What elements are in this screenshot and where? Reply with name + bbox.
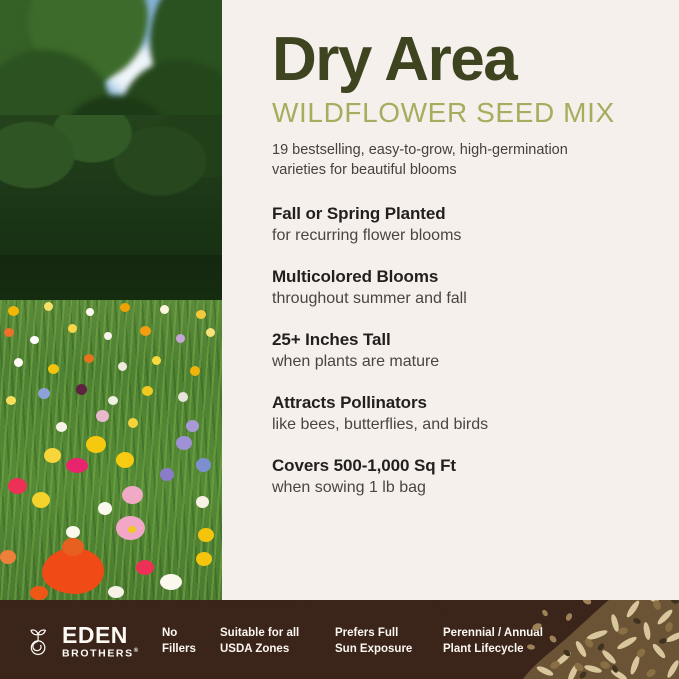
flower — [6, 396, 16, 405]
flower — [68, 324, 77, 333]
feature-subtext: for recurring flower blooms — [272, 226, 653, 247]
flower-poppy-orange — [30, 586, 48, 600]
flower — [160, 574, 182, 590]
flower — [178, 392, 188, 402]
footer-badge-sun-exposure: Prefers Full Sun Exposure — [335, 626, 443, 658]
feature-heading: 25+ Inches Tall — [272, 329, 653, 350]
feature-heading: Multicolored Blooms — [272, 266, 653, 287]
flower — [108, 396, 118, 405]
flower-poppy-red — [136, 560, 154, 575]
flower — [104, 332, 112, 340]
grass-texture — [0, 300, 222, 607]
flower-cornflower — [38, 388, 50, 399]
flower — [44, 302, 53, 311]
flower — [196, 310, 206, 319]
brand-name-secondary-text: BROTHERS — [62, 648, 134, 660]
flower-cosmos — [96, 410, 109, 422]
feature-item: 25+ Inches Tall when plants are mature — [272, 329, 653, 373]
flower — [30, 336, 39, 344]
feature-heading: Fall or Spring Planted — [272, 203, 653, 224]
flower — [176, 334, 185, 343]
wildflower-meadow-photo — [0, 0, 222, 607]
feature-item: Multicolored Blooms throughout summer an… — [272, 266, 653, 310]
flower — [0, 550, 16, 564]
flower — [152, 356, 161, 365]
footer-badge-no-fillers: No Fillers — [162, 626, 220, 658]
flower — [66, 526, 80, 538]
flower — [206, 328, 215, 337]
feature-subtext: like bees, butterflies, and birds — [272, 415, 653, 436]
flower — [86, 308, 94, 316]
footer-bar: EDEN BROTHERS® No Fillers Suitable for a… — [0, 600, 679, 679]
wildflower-meadow — [0, 300, 222, 607]
flower — [8, 306, 19, 316]
flower — [4, 328, 14, 337]
flower-pink — [66, 458, 88, 473]
product-infographic-card: Dry Area WILDFLOWER SEED MIX 19 bestsell… — [0, 0, 679, 679]
flower — [128, 418, 138, 428]
flower — [160, 468, 174, 481]
flower — [160, 305, 169, 314]
feature-item: Covers 500-1,000 Sq Ft when sowing 1 lb … — [272, 455, 653, 499]
flower-scabiosa — [176, 436, 192, 450]
flower — [84, 354, 94, 363]
flower — [118, 362, 127, 371]
flower-poppy-yellow — [116, 452, 134, 468]
feature-subtext: when sowing 1 lb bag — [272, 478, 653, 499]
flower-cosmos — [122, 486, 143, 504]
flower — [56, 422, 67, 432]
flower-poppy-red — [8, 478, 27, 494]
flower-center — [128, 526, 136, 533]
product-subtitle: WILDFLOWER SEED MIX — [272, 99, 653, 127]
flower — [196, 496, 209, 508]
flower-poppy-orange — [62, 538, 84, 556]
flower — [98, 502, 112, 515]
brand-wordmark: EDEN BROTHERS® — [62, 624, 140, 659]
feature-heading: Attracts Pollinators — [272, 392, 653, 413]
flower — [48, 364, 59, 374]
flower-poppy-yellow — [44, 448, 61, 463]
feature-item: Attracts Pollinators like bees, butterfl… — [272, 392, 653, 436]
registered-trademark-icon: ® — [134, 648, 140, 654]
flower — [108, 586, 124, 598]
flower-poppy-yellow — [32, 492, 50, 508]
flower — [190, 366, 200, 376]
footer-badge-usda-zones: Suitable for all USDA Zones — [220, 626, 335, 658]
product-details-panel: Dry Area WILDFLOWER SEED MIX 19 bestsell… — [222, 0, 679, 600]
brand-name-secondary: BROTHERS® — [62, 648, 140, 659]
flower-cornflower — [196, 458, 211, 472]
product-description: 19 bestselling, easy-to-grow, high-germi… — [272, 140, 622, 181]
feature-subtext: when plants are mature — [272, 352, 653, 373]
feature-list: Fall or Spring Planted for recurring flo… — [272, 203, 653, 499]
flower — [140, 326, 151, 336]
flower-poppy-yellow — [86, 436, 106, 453]
flower — [76, 384, 87, 395]
flower — [14, 358, 23, 367]
feature-subtext: throughout summer and fall — [272, 289, 653, 310]
seed-pile-image — [523, 600, 679, 679]
flower — [142, 386, 153, 396]
flower — [186, 420, 199, 432]
feature-item: Fall or Spring Planted for recurring flo… — [272, 203, 653, 247]
seedling-sprout-icon — [22, 625, 55, 658]
page-title: Dry Area — [272, 30, 653, 90]
flower-poppy-yellow — [198, 528, 214, 542]
brand-logo[interactable]: EDEN BROTHERS® — [22, 620, 162, 659]
feature-heading: Covers 500-1,000 Sq Ft — [272, 455, 653, 476]
flower — [120, 303, 130, 312]
flower-poppy-yellow — [196, 552, 212, 566]
brand-name-primary: EDEN — [62, 624, 140, 647]
